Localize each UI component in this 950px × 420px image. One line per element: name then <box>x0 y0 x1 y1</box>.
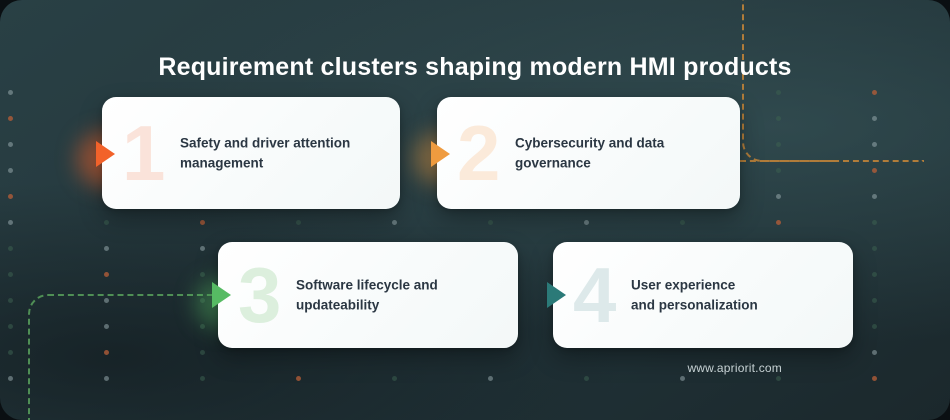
card-2-title-line1: Cybersecurity and data <box>515 135 664 150</box>
decorative-dot <box>392 220 397 225</box>
decorative-dot <box>200 220 205 225</box>
card-3-title-line1: Software lifecycle and <box>296 277 438 292</box>
decorative-dot <box>680 376 685 381</box>
cluster-card-4[interactable]: 4 User experience and personalization <box>553 242 853 348</box>
decorative-dot <box>104 324 109 329</box>
triangle-right-icon-card-1 <box>96 141 115 167</box>
decorative-dot <box>8 168 13 173</box>
decorative-dot <box>200 376 205 381</box>
card-1-title: Safety and driver attention management <box>180 133 386 172</box>
decorative-dot <box>872 350 877 355</box>
decorative-dot <box>872 324 877 329</box>
decorative-dot <box>8 220 13 225</box>
decorative-dot <box>296 220 301 225</box>
card-3-number: 3 <box>238 256 281 334</box>
triangle-right-icon-card-2 <box>431 141 450 167</box>
decorative-dot <box>104 376 109 381</box>
card-3-title-line2: updateability <box>296 297 379 312</box>
decorative-dot <box>488 376 493 381</box>
decorative-dot <box>200 324 205 329</box>
decorative-dot <box>872 168 877 173</box>
decorative-dot <box>776 376 781 381</box>
decorative-dot <box>872 376 877 381</box>
decorative-dot <box>104 246 109 251</box>
decorative-dot <box>296 376 301 381</box>
card-2-title: Cybersecurity and data governance <box>515 133 726 172</box>
dashed-path-card2 <box>740 160 835 162</box>
decorative-dot <box>104 350 109 355</box>
decorative-dot <box>8 194 13 199</box>
decorative-dot <box>680 220 685 225</box>
decorative-dot <box>872 194 877 199</box>
dashed-path-bottom-left <box>28 294 220 420</box>
infographic-canvas: Requirement clusters shaping modern HMI … <box>0 0 950 420</box>
decorative-dot <box>8 142 13 147</box>
decorative-dot <box>776 142 781 147</box>
decorative-dot <box>8 272 13 277</box>
triangle-right-icon-card-4 <box>547 282 566 308</box>
card-4-title: User experience and personalization <box>631 275 839 314</box>
decorative-dot <box>104 298 109 303</box>
decorative-dot <box>392 376 397 381</box>
card-1-title-line2: management <box>180 155 263 170</box>
decorative-dot <box>8 246 13 251</box>
card-4-title-line1: User experience <box>631 277 735 292</box>
site-url: www.apriorit.com <box>687 361 782 375</box>
card-1-title-line1: Safety and driver attention <box>180 135 350 150</box>
decorative-dot <box>872 220 877 225</box>
decorative-dot <box>776 90 781 95</box>
decorative-dot <box>8 376 13 381</box>
decorative-dot <box>8 324 13 329</box>
card-2-number: 2 <box>457 114 500 192</box>
decorative-dot <box>872 246 877 251</box>
decorative-dot <box>200 246 205 251</box>
page-title: Requirement clusters shaping modern HMI … <box>0 53 950 82</box>
decorative-dot <box>584 220 589 225</box>
decorative-dot <box>104 272 109 277</box>
decorative-dot <box>8 116 13 121</box>
decorative-dot <box>872 272 877 277</box>
cluster-card-2[interactable]: 2 Cybersecurity and data governance <box>437 97 740 209</box>
decorative-dot <box>872 90 877 95</box>
decorative-dot <box>872 142 877 147</box>
card-4-number: 4 <box>573 256 616 334</box>
card-4-title-line2: and personalization <box>631 297 758 312</box>
decorative-dot <box>776 220 781 225</box>
decorative-dot <box>776 194 781 199</box>
decorative-dot <box>488 220 493 225</box>
decorative-dot <box>872 116 877 121</box>
decorative-dot <box>776 168 781 173</box>
decorative-dot <box>200 272 205 277</box>
decorative-dot <box>200 350 205 355</box>
card-1-number: 1 <box>122 114 165 192</box>
decorative-dot <box>8 350 13 355</box>
decorative-dot <box>584 376 589 381</box>
cluster-card-3[interactable]: 3 Software lifecycle and updateability <box>218 242 518 348</box>
card-2-title-line2: governance <box>515 155 591 170</box>
decorative-dot <box>776 116 781 121</box>
decorative-dot <box>8 90 13 95</box>
decorative-dot <box>872 298 877 303</box>
cluster-card-1[interactable]: 1 Safety and driver attention management <box>102 97 400 209</box>
decorative-dot <box>200 298 205 303</box>
card-3-title: Software lifecycle and updateability <box>296 275 504 314</box>
triangle-right-icon-card-3 <box>212 282 231 308</box>
decorative-dot <box>104 220 109 225</box>
decorative-dot <box>8 298 13 303</box>
